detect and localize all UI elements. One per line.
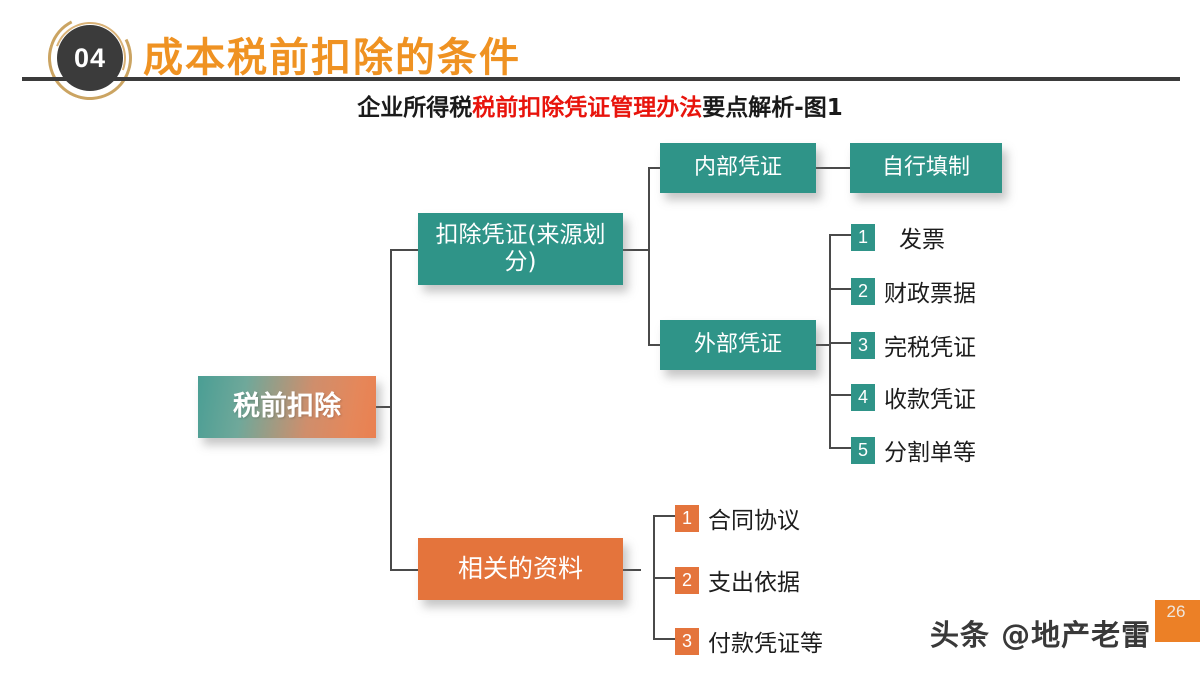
list-item-label: 分割单等 [884, 433, 976, 467]
connector-rel-item-2 [653, 577, 675, 579]
node-internal-voucher[interactable]: 内部凭证 [660, 143, 816, 193]
list-item-number: 1 [675, 505, 699, 532]
title-divider [22, 77, 1180, 81]
list-item-number: 2 [851, 278, 875, 305]
page-subtitle: 企业所得税税前扣除凭证管理办法要点解析-图1 [0, 88, 1200, 122]
node-self-fill[interactable]: 自行填制 [850, 143, 1002, 193]
list-item[interactable]: 1 合同协议 [675, 501, 800, 535]
connector-external-stub [816, 344, 830, 346]
slide: 04 成本税前扣除的条件 企业所得税税前扣除凭证管理办法要点解析-图1 [0, 0, 1200, 675]
badge-number: 04 [74, 43, 106, 74]
list-item-number: 3 [675, 628, 699, 655]
subtitle-part1: 企业所得税 [357, 95, 472, 121]
connector-root-trunk [390, 249, 392, 570]
list-item-label: 财政票据 [884, 274, 976, 308]
page-title: 成本税前扣除的条件 [143, 25, 521, 83]
node-related-materials[interactable]: 相关的资料 [418, 538, 623, 600]
connector-rel-item-1 [653, 515, 675, 517]
connector-to-related [390, 569, 420, 571]
connector-to-source [390, 249, 420, 251]
connector-source-trunk [648, 167, 650, 345]
badge-disc: 04 [57, 25, 123, 91]
connector-ext-item-4 [829, 394, 851, 396]
subtitle-part2: 要点解析-图1 [702, 95, 843, 121]
diagram-canvas: 内部凭证 自行填制 扣除凭证(来源划分) 外部凭证 税前扣除 相关的资料 1 发… [0, 120, 1200, 675]
connector-internal-selffill [816, 167, 852, 169]
list-item-label: 支出依据 [708, 563, 800, 597]
list-item-label: 收款凭证 [884, 380, 976, 414]
list-item-label: 发票 [899, 220, 945, 254]
connector-ext-item-3 [829, 342, 851, 344]
list-item[interactable]: 4 收款凭证 [851, 380, 976, 414]
list-item[interactable]: 2 支出依据 [675, 563, 800, 597]
connector-rel-item-3 [653, 638, 675, 640]
list-item-label: 完税凭证 [884, 328, 976, 362]
node-deduction-voucher-source[interactable]: 扣除凭证(来源划分) [418, 213, 623, 285]
list-item-label: 合同协议 [708, 501, 800, 535]
list-item-number: 4 [851, 384, 875, 411]
page-number: 26 [1152, 602, 1200, 622]
list-item-number: 3 [851, 332, 875, 359]
watermark: 头条 @地产老雷 [930, 612, 1151, 654]
subtitle-highlight: 税前扣除凭证管理办法 [472, 95, 702, 121]
connector-source-stub [623, 249, 649, 251]
connector-ext-item-1 [829, 234, 851, 236]
connector-related-stub [623, 569, 641, 571]
connector-external-bracket [829, 234, 831, 448]
list-item[interactable]: 2 财政票据 [851, 274, 976, 308]
list-item[interactable]: 1 发票 [851, 220, 945, 254]
list-item[interactable]: 3 付款凭证等 [675, 624, 823, 658]
list-item-number: 2 [675, 567, 699, 594]
node-root-pretax-deduction[interactable]: 税前扣除 [198, 376, 376, 438]
list-item[interactable]: 5 分割单等 [851, 433, 976, 467]
list-item-number: 5 [851, 437, 875, 464]
list-item-label: 付款凭证等 [708, 624, 823, 658]
connector-ext-item-2 [829, 288, 851, 290]
list-item-number: 1 [851, 224, 875, 251]
node-external-voucher[interactable]: 外部凭证 [660, 320, 816, 370]
connector-ext-item-5 [829, 447, 851, 449]
list-item[interactable]: 3 完税凭证 [851, 328, 976, 362]
